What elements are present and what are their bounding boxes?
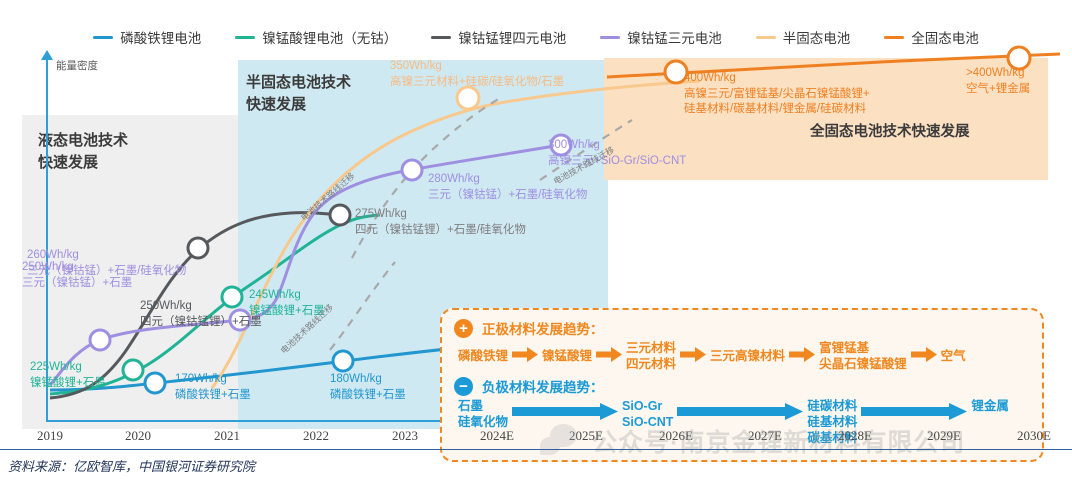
x-tick-2028E: 2028E (838, 428, 872, 444)
x-tick-2024E: 2024E (480, 428, 514, 444)
legend-label-lfp: 磷酸铁锂电池 (120, 27, 201, 47)
legend-swatch-lfp (93, 36, 113, 39)
legend-item-allsolid: 全固态电池 (884, 27, 979, 47)
legend-item-ternary: 镍钴锰三元电池 (600, 27, 722, 47)
legend-item-semisolid: 半固态电池 (756, 27, 851, 47)
arrow-right-icon (861, 403, 967, 425)
legend-swatch-ternary (600, 36, 620, 39)
chart-root: 磷酸铁锂电池 镍锰酸锂电池（无钴） 镍钴锰锂四元电池 镍钴锰三元电池 半固态电池… (0, 0, 1072, 484)
point-label-ncm-300: 300Wh/kg 高镍三元+SiO-Gr/SiO-CNT (548, 138, 686, 169)
point-label-lfp-180: 180Wh/kg 磷酸铁锂+石墨 (330, 372, 406, 403)
anode-trend-title: 负极材料发展趋势： (482, 376, 604, 396)
legend-swatch-semisolid (756, 36, 776, 39)
legend-label-quaternary: 镍钴锰锂四元电池 (458, 27, 566, 47)
x-tick-2022: 2022 (303, 428, 329, 444)
arrow-right-icon (512, 403, 618, 425)
legend-swatch-lnmo (235, 36, 255, 39)
arrow-right-icon (789, 347, 815, 367)
cathode-trend-title: 正极材料发展趋势： (482, 318, 604, 338)
cathode-flow-row: 磷酸铁锂 镍锰酸锂 三元材料 四元材料 三元高镍材料 富锂锰基 尖晶石镍锰酸锂 (458, 341, 1030, 372)
marker-quad-250 (188, 238, 208, 258)
marker-lfp-180 (333, 351, 353, 371)
legend-item-lfp: 磷酸铁锂电池 (93, 27, 201, 47)
cathode-step-5: 富锂锰基 尖晶石镍锰酸锂 (819, 341, 907, 372)
x-tick-2021: 2021 (214, 428, 240, 444)
marker-ncm-250 (90, 330, 110, 350)
cathode-step-3: 三元材料 四元材料 (626, 341, 676, 372)
marker-lnmo-225 (123, 360, 143, 380)
x-tick-2030E: 2030E (1017, 428, 1051, 444)
cathode-step-4: 三元高镍材料 (710, 349, 785, 365)
x-tick-2027E: 2027E (748, 428, 782, 444)
anode-trend-header: − 负极材料发展趋势： (454, 376, 1030, 396)
point-label-quad-275: 275Wh/kg 四元（镍钴锰锂）+石墨/硅氧化物 (355, 207, 526, 238)
marker-quad-275 (330, 205, 350, 225)
marker-lfp-170 (145, 373, 165, 393)
source-note: 资料来源：亿欧智库，中国银河证券研究院 (8, 456, 255, 475)
x-axis-tick-labels: 2019 2020 2021 2022 2023 2024E 2025E 202… (0, 428, 1072, 450)
cathode-step-6: 空气 (941, 349, 966, 365)
x-tick-2025E: 2025E (569, 428, 603, 444)
anode-step-1: 石墨 硅氧化物 (458, 399, 508, 430)
arrow-right-icon (596, 347, 622, 367)
legend-item-lnmo: 镍锰酸锂电池（无钴） (235, 27, 397, 47)
legend-swatch-quaternary (431, 36, 451, 39)
cathode-trend-header: + 正极材料发展趋势： (454, 318, 1030, 338)
plot-area: 液态电池技术 快速发展 半固态电池技术 快速发展 全固态电池技术快速发展 能量密… (0, 50, 1072, 428)
arrow-right-icon (911, 347, 937, 367)
legend-swatch-allsolid (884, 36, 904, 39)
anode-step-2: SiO-Gr SiO-CNT (622, 399, 673, 430)
x-tick-2026E: 2026E (659, 428, 693, 444)
point-label-semi-350: 350Wh/kg 高镍三元材料+硅碳/硅氧化物/石墨 (390, 59, 564, 90)
anode-step-4: 锂金属 (971, 399, 1009, 415)
migration-dash-lower (330, 262, 395, 350)
legend-label-semisolid: 半固态电池 (783, 27, 851, 47)
plus-icon: + (454, 319, 473, 338)
arrow-right-icon (680, 347, 706, 367)
point-label-lfp-170: 170Wh/kg 磷酸铁锂+石墨 (175, 372, 251, 403)
point-label-quad-250: 250Wh/kg 四元（镍钴锰锂）+石墨 (140, 299, 262, 330)
point-label-solid-400: 400Wh/kg 高镍三元/富锂锰基/尖晶石镍锰酸锂+ 硅基材料/碳基材料/锂金… (684, 71, 870, 118)
x-tick-2029E: 2029E (927, 428, 961, 444)
x-tick-2023: 2023 (392, 428, 418, 444)
x-tick-2020: 2020 (125, 428, 151, 444)
legend-label-ternary: 镍钴锰三元电池 (627, 27, 722, 47)
point-label-lnmo-225: 225Wh/kg 镍锰酸锂+石墨 (30, 360, 106, 391)
minus-icon: − (454, 377, 473, 396)
legend-label-allsolid: 全固态电池 (911, 27, 979, 47)
cathode-step-1: 磷酸铁锂 (458, 349, 508, 365)
arrow-right-icon (677, 403, 803, 425)
legend-label-lnmo: 镍锰酸锂电池（无钴） (262, 27, 397, 47)
arrow-right-icon (512, 347, 538, 367)
point-label-solid-400plus: >400Wh/kg 空气+锂金属 (966, 66, 1030, 97)
legend-item-quaternary: 镍钴锰锂四元电池 (431, 27, 566, 47)
x-tick-2019: 2019 (37, 428, 63, 444)
footer-divider (0, 449, 1072, 450)
cathode-step-2: 镍锰酸锂 (542, 349, 592, 365)
marker-semi-350 (457, 87, 479, 109)
marker-ncm-280 (402, 160, 422, 180)
chart-legend: 磷酸铁锂电池 镍锰酸锂电池（无钴） 镍钴锰锂四元电池 镍钴锰三元电池 半固态电池… (0, 26, 1072, 48)
point-label-ncm-260: 260Wh/kg 三元（镍钴锰）+石墨/硅氧化物 (27, 248, 186, 279)
